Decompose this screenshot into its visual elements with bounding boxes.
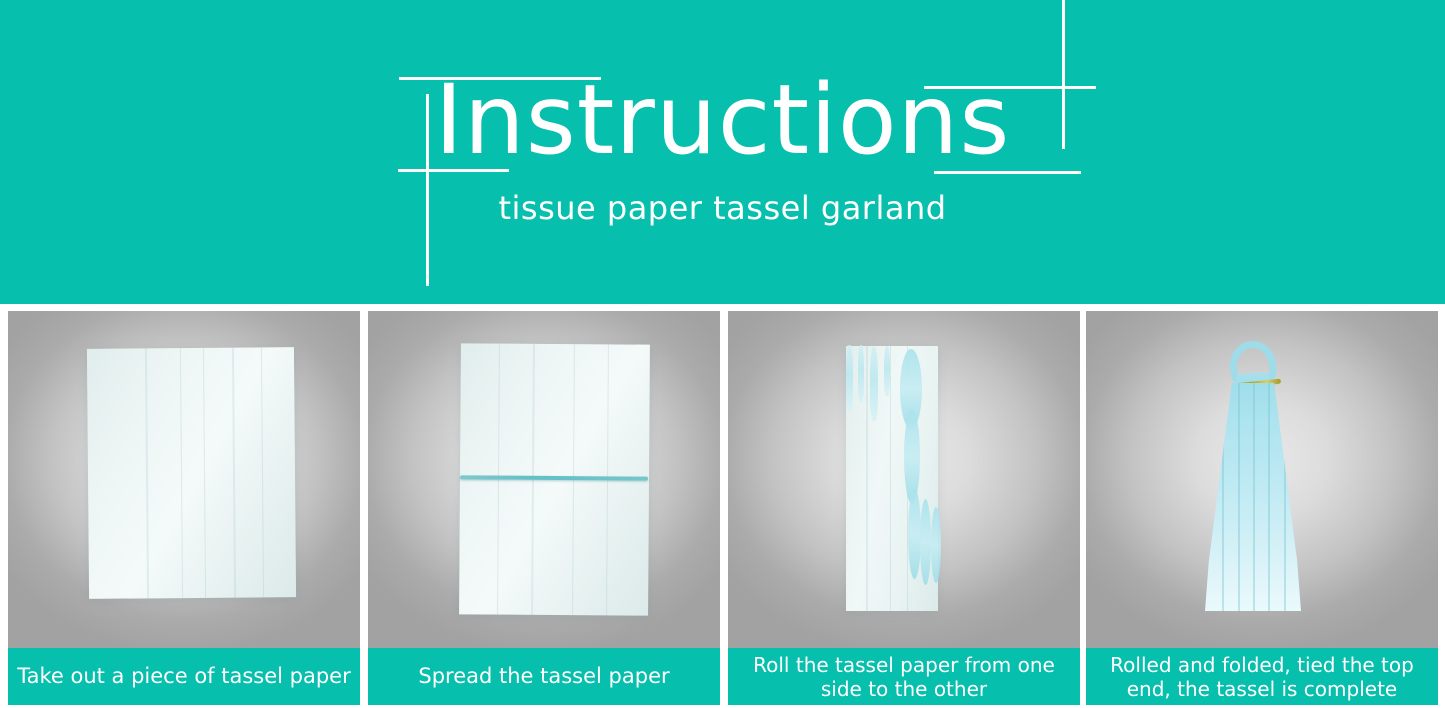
step-caption-2: Spread the tassel paper [368, 648, 720, 705]
step-photo-3 [728, 311, 1080, 648]
tassel-fringe-body [1205, 383, 1301, 611]
step-caption-1: Take out a piece of tassel paper [8, 648, 360, 705]
page-title: Instructions [0, 72, 1445, 168]
step-photo-4 [1086, 311, 1438, 648]
tissue-sheet-folded [87, 347, 296, 599]
step-panel-4: Rolled and folded, tied the top end, the… [1086, 311, 1438, 705]
page-subtitle: tissue paper tassel garland [0, 192, 1445, 224]
step-panel-3: Roll the tassel paper from one side to t… [728, 311, 1080, 705]
step-panel-2: Spread the tassel paper [368, 311, 720, 705]
fringe-strand [870, 347, 878, 421]
step-photo-1 [8, 311, 360, 648]
rolled-core [920, 499, 931, 585]
rolled-core [931, 507, 941, 583]
steps-strip: Take out a piece of tassel paper Spread … [0, 311, 1445, 708]
rolled-core [908, 489, 921, 579]
step-caption-3: Roll the tassel paper from one side to t… [728, 648, 1080, 705]
fringe-strand [884, 346, 890, 396]
header-banner: Instructions tissue paper tassel garland [0, 0, 1445, 304]
instructions-page: Instructions tissue paper tassel garland… [0, 0, 1445, 708]
step-photo-2 [368, 311, 720, 648]
fringe-strand [846, 345, 853, 411]
step-caption-4: Rolled and folded, tied the top end, the… [1086, 648, 1438, 705]
fringe-strand [858, 345, 864, 403]
step-panel-1: Take out a piece of tassel paper [8, 311, 360, 705]
